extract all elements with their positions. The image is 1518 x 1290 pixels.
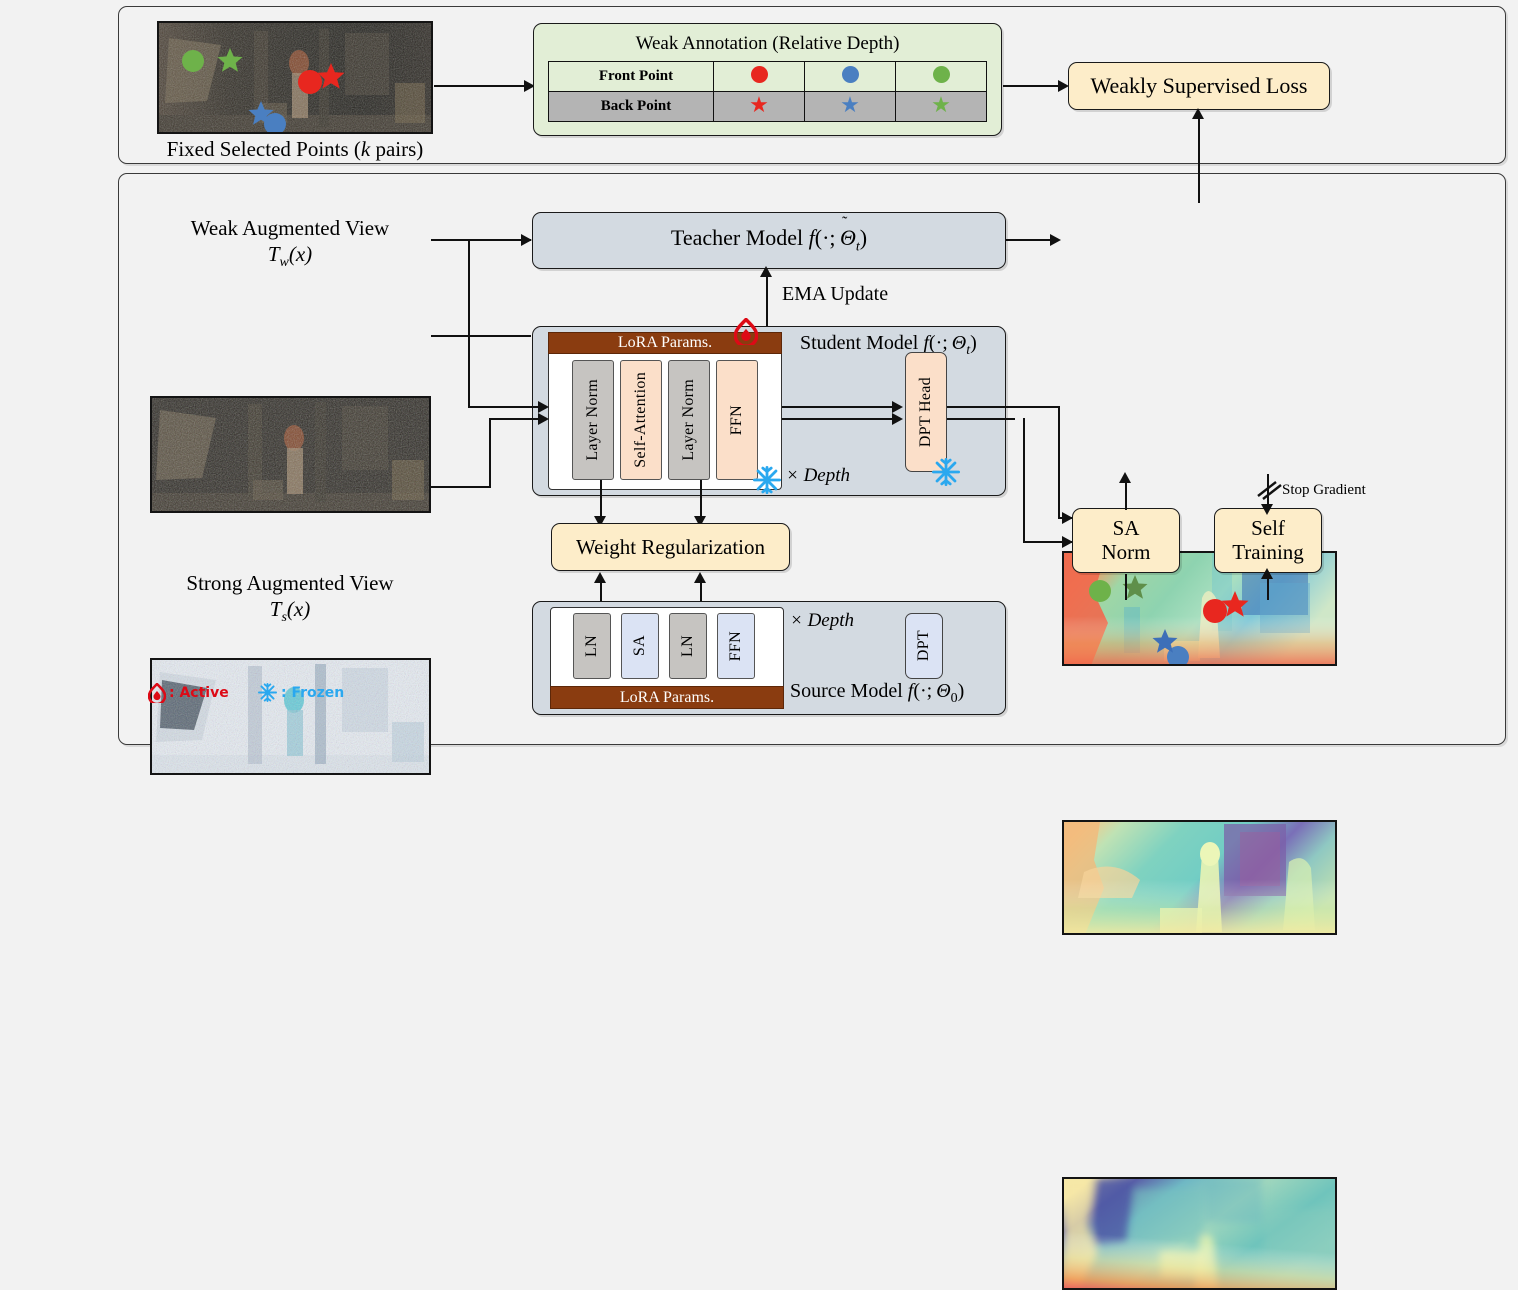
self-training-line1: Self <box>1251 517 1285 540</box>
arrow-weak-down-to-student <box>468 335 470 408</box>
legend-frozen: : Frozen <box>258 683 344 702</box>
fixed-points-label: Fixed Selected Points (k pairs) <box>120 136 470 162</box>
arrowhead <box>1050 234 1061 246</box>
teacher-model-label: Teacher Model f(·; Θ˜t) <box>671 225 867 255</box>
weak-annotation-box: Weak Annotation (Relative Depth) Front P… <box>533 23 1002 136</box>
block-label: LN <box>679 635 697 657</box>
table-row-front: Front Point <box>549 62 987 92</box>
self-training-line2: Training <box>1232 541 1304 564</box>
ema-update-label: EMA Update <box>782 283 888 306</box>
arrowhead <box>1119 472 1131 483</box>
snowflake-icon-dpt-head <box>932 458 960 486</box>
block-label: Self-Attention <box>632 372 650 468</box>
weight-regularization-label: Weight Regularization <box>576 535 765 560</box>
weak-augmented-image <box>150 396 431 513</box>
marker-overlay <box>159 23 433 134</box>
self-training-box: Self Training <box>1214 508 1322 573</box>
legend-frozen-label: : Frozen <box>281 685 344 701</box>
arrow-strong-up <box>489 418 491 488</box>
arrow-into-student-2 <box>489 418 544 420</box>
source-block-ffn: FFN <box>717 613 755 679</box>
arrowhead <box>760 266 772 277</box>
arrowhead <box>538 413 549 425</box>
arrow-bottom-to-sanorm <box>1125 574 1127 600</box>
arrow-annotation-to-loss <box>1003 85 1060 87</box>
arrow-dpt-down-2 <box>1023 418 1025 543</box>
source-lora-params: LoRA Params. <box>550 686 784 709</box>
annotation-title: Weak Annotation (Relative Depth) <box>636 33 900 55</box>
weakly-supervised-loss-label: Weakly Supervised Loss <box>1091 73 1308 99</box>
self-training-depth-map <box>1062 1177 1337 1290</box>
weak-view-label: Weak Augmented View Tw(x) <box>150 215 430 272</box>
arrowhead <box>538 401 549 413</box>
flame-icon <box>148 683 166 703</box>
arrow-encoder-to-dpt-2 <box>782 418 897 420</box>
block-label: FFN <box>728 405 746 435</box>
arrowhead <box>892 413 903 425</box>
strong-augmented-image <box>150 658 431 775</box>
source-dpt: DPT <box>905 613 943 679</box>
arrowhead <box>892 401 903 413</box>
arrow-weak-to-teacher-h <box>431 239 531 241</box>
fixed-points-text: Fixed Selected Points (k pairs) <box>167 137 424 161</box>
arrow-student-to-wreg-v1 <box>600 480 602 520</box>
arrow-strong-to-student <box>431 486 491 488</box>
sa-norm-line1: SA <box>1113 517 1140 540</box>
arrow-teacher-to-depthmap <box>1006 239 1054 241</box>
arrow-into-student-1 <box>468 406 544 408</box>
source-block-ln-1: LN <box>573 613 611 679</box>
arrow-dpt-down-1 <box>1058 406 1060 519</box>
legend-active-label: : Active <box>169 685 229 701</box>
weakly-supervised-loss-box: Weakly Supervised Loss <box>1068 62 1330 110</box>
block-label: Layer Norm <box>584 379 602 461</box>
source-dpt-label: DPT <box>915 630 933 661</box>
front-marker-red <box>714 62 805 92</box>
student-block-self-attention: Self-Attention <box>620 360 662 480</box>
stop-gradient-label: Stop Gradient <box>1282 482 1366 499</box>
arrow-encoder-to-dpt-1 <box>782 406 897 408</box>
student-block-layer-norm-1: Layer Norm <box>572 360 614 480</box>
back-marker-green: ★ <box>896 92 987 122</box>
row-label-front: Front Point <box>549 62 714 92</box>
arrowhead <box>594 572 606 583</box>
annotation-table: Front Point Back Point ★ ★ ★ <box>548 61 987 122</box>
legend-active: : Active <box>148 683 229 703</box>
sa-norm-box: SA Norm <box>1072 508 1180 573</box>
weight-regularization-box: Weight Regularization <box>551 523 790 571</box>
arrowhead <box>521 234 532 246</box>
arrowhead <box>1192 108 1204 119</box>
arrowhead <box>1261 568 1273 579</box>
source-lora-label: LoRA Params. <box>620 689 714 707</box>
fixed-points-image <box>157 21 433 134</box>
arrow-dpt-out-2 <box>947 418 1015 420</box>
flame-icon-student <box>734 318 758 345</box>
strong-view-label: Strong Augmented View Ts(x) <box>150 570 430 627</box>
back-marker-red: ★ <box>714 92 805 122</box>
block-label: SA <box>631 635 649 656</box>
arrowhead <box>1261 504 1273 515</box>
arrow-weak-branch <box>431 335 531 337</box>
block-label: LN <box>583 635 601 657</box>
teacher-model-box: Teacher Model f(·; Θ˜t) <box>532 212 1006 269</box>
arrowhead <box>694 572 706 583</box>
source-block-sa: SA <box>621 613 659 679</box>
sa-norm-line2: Norm <box>1102 541 1151 564</box>
snowflake-icon <box>258 683 277 702</box>
student-lora-label: LoRA Params. <box>618 334 712 352</box>
arrow-depthmap-to-loss <box>1198 115 1200 203</box>
student-block-ffn: FFN <box>716 360 758 480</box>
front-marker-green <box>896 62 987 92</box>
front-marker-blue <box>805 62 896 92</box>
table-row-back: Back Point ★ ★ ★ <box>549 92 987 122</box>
student-block-layer-norm-2: Layer Norm <box>668 360 710 480</box>
arrow-student-to-wreg-v2 <box>700 480 702 520</box>
strong-view-title: Strong Augmented View <box>150 570 430 596</box>
weak-view-sub: Tw(x) <box>150 241 430 272</box>
source-depth-label: × Depth <box>790 610 854 632</box>
arrow-ema-update <box>766 272 768 332</box>
back-marker-blue: ★ <box>805 92 896 122</box>
source-model-title: Source Model f(·; Θ0) <box>790 680 964 707</box>
arrow-weak-up <box>468 239 470 337</box>
block-label: Layer Norm <box>680 379 698 461</box>
student-depth-map <box>1062 820 1337 935</box>
strong-view-sub: Ts(x) <box>150 596 430 627</box>
arrow-dpt-out-1 <box>947 406 1059 408</box>
dpt-head-label: DPT Head <box>917 377 935 447</box>
student-depth-label: × Depth <box>786 465 850 487</box>
snowflake-icon-student-encoder <box>753 466 781 494</box>
block-label: FFN <box>727 631 745 661</box>
student-dpt-head: DPT Head <box>905 352 947 472</box>
weak-view-title: Weak Augmented View <box>150 215 430 241</box>
source-block-ln-2: LN <box>669 613 707 679</box>
row-label-back: Back Point <box>549 92 714 122</box>
student-model-title-render: Student Model f(·; Θt) <box>800 332 977 359</box>
arrow-image-to-annotation <box>434 85 526 87</box>
stop-gradient-icon <box>1254 478 1282 502</box>
